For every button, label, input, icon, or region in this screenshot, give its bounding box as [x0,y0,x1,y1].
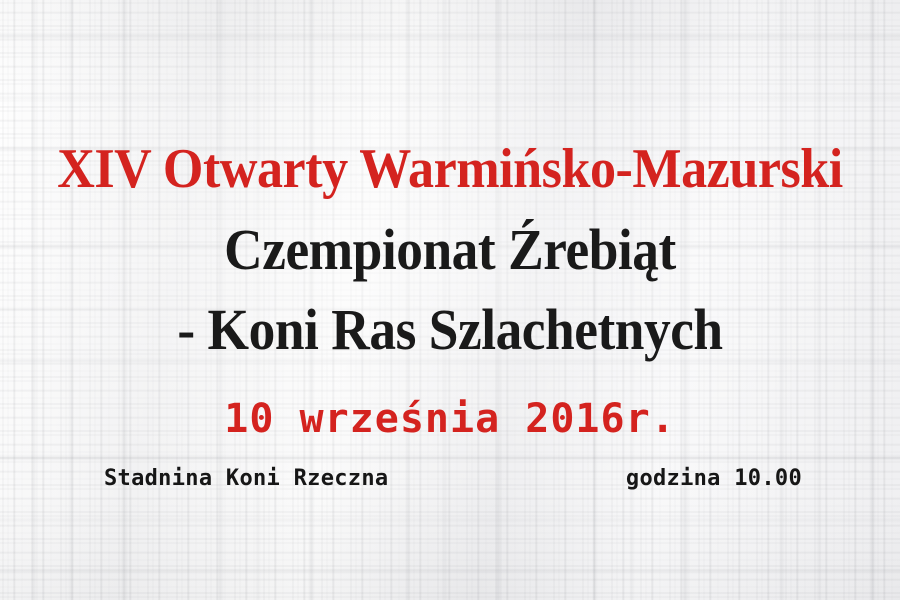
poster-title-line-1: XIV Otwarty Warmińsko-Mazurski [32,141,869,197]
poster-canvas: XIV Otwarty Warmińsko-Mazurski Czempiona… [0,0,900,600]
poster-title-line-2: Czempionat Źrebiąt [36,221,864,279]
poster-venue-name: Stadnina Koni Rzeczna [104,466,388,491]
poster-event-time: godzina 10.00 [626,466,802,491]
poster-title-line-3: - Koni Ras Szlachetnych [36,301,864,359]
poster-event-date: 10 września 2016r. [0,399,900,439]
poster-content: XIV Otwarty Warmińsko-Mazurski Czempiona… [0,0,900,600]
poster-footer: Stadnina Koni Rzeczna godzina 10.00 [104,466,802,491]
